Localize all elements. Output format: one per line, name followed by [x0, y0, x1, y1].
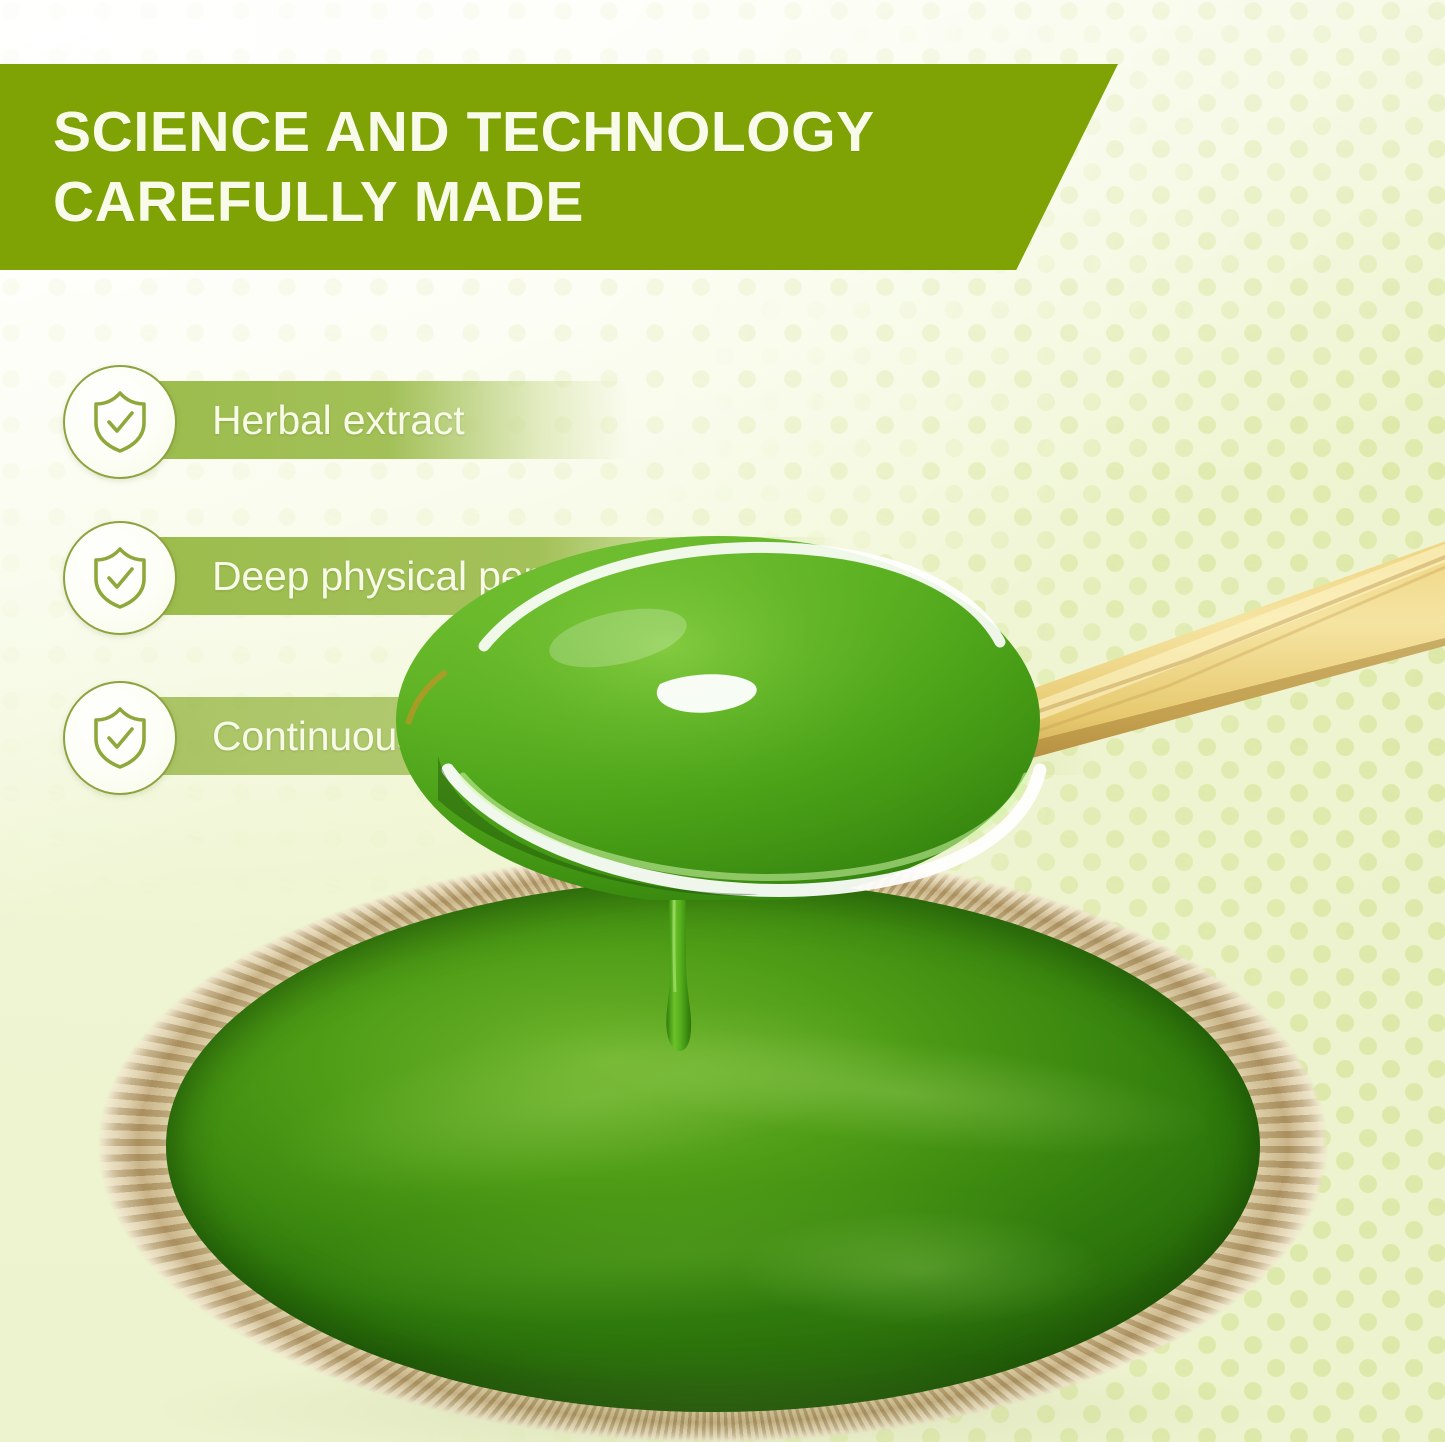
feature-bar: Deep physical penetration [128, 537, 838, 615]
feature-label: Herbal extract [128, 398, 464, 442]
feature-label: Continuous warm moxibustion treatment [128, 714, 938, 758]
shield-check-icon [89, 545, 151, 611]
product-feature-graphic: SCIENCE AND TECHNOLOGY CAREFULLY MADE He… [0, 0, 1445, 1442]
feature-list: Herbal extract Deep physical penetration [0, 0, 1445, 1442]
feature-bar: Herbal extract [128, 381, 628, 459]
feature-icon-badge [63, 521, 177, 635]
shield-check-icon [89, 705, 151, 771]
feature-bar: Continuous warm moxibustion treatment [128, 697, 1103, 775]
feature-icon-badge [63, 681, 177, 795]
shield-check-icon [89, 389, 151, 455]
feature-icon-badge [63, 365, 177, 479]
feature-label: Deep physical penetration [128, 554, 681, 598]
